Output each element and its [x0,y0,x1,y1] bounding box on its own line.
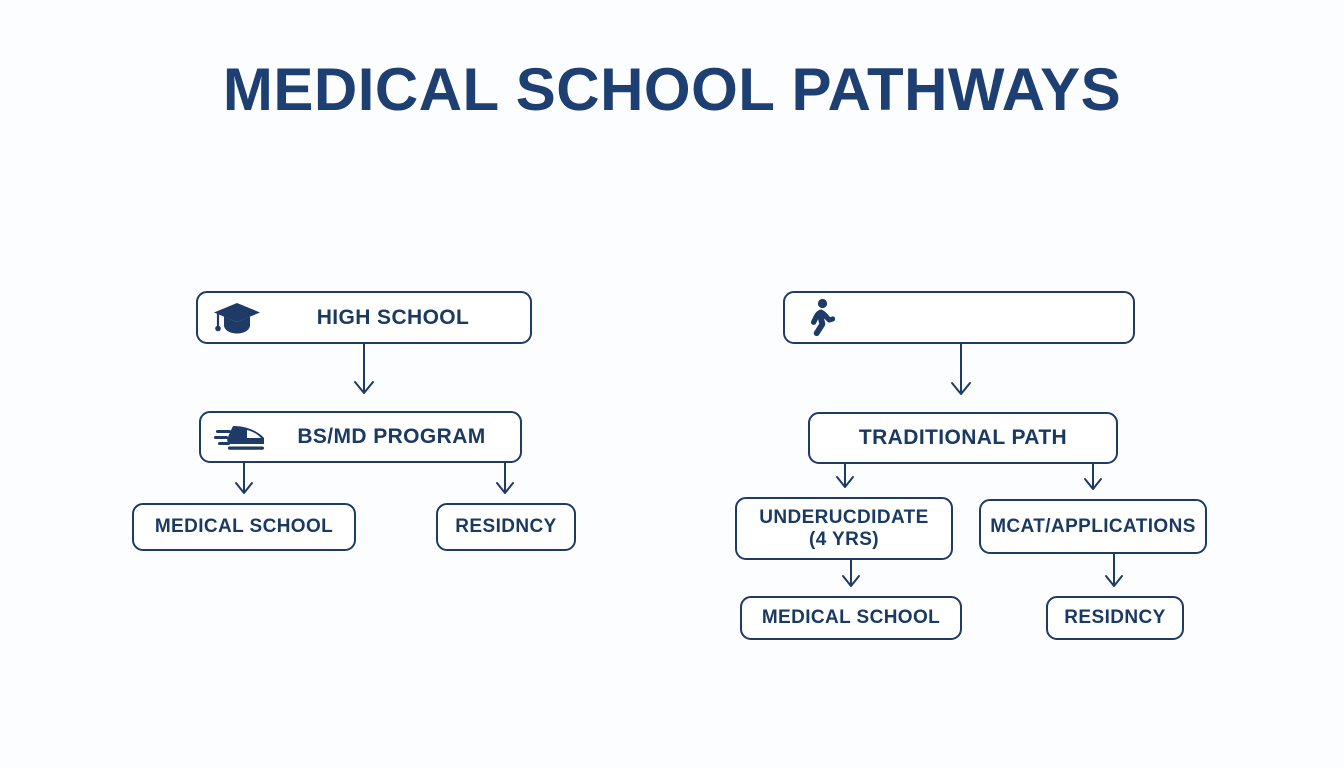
node-walking-start[interactable] [783,291,1135,344]
edge-mcat-to-residency [1106,554,1122,586]
node-medical-school-right-label: MEDICAL SCHOOL [762,607,940,628]
node-medical-school-left-label: MEDICAL SCHOOL [155,516,333,537]
walking-person-icon [797,297,841,339]
edge-bsmd-to-residency [497,463,513,493]
graduation-cap-icon [210,298,264,338]
node-high-school-label: HIGH SCHOOL [266,306,520,330]
diagram-canvas: MEDICAL SCHOOL PATHWAYS [0,0,1344,768]
edge-traditionalpath-to-undergraduate [837,464,853,487]
node-traditional-path[interactable]: TRADITIONAL PATH [808,412,1118,464]
node-bsmd-program[interactable]: BS/MD PROGRAM [199,411,522,463]
high-speed-train-icon [213,420,269,454]
node-undergraduate-label-line2: (4 YRS) [809,529,879,550]
node-residency-left[interactable]: RESIDNCY [436,503,576,551]
edge-highschool-to-bsmd [355,344,373,393]
edge-bsmd-to-medicalschool [236,463,252,493]
node-traditional-path-label: TRADITIONAL PATH [859,426,1067,450]
node-mcat-applications[interactable]: MCAT/APPLICATIONS [979,499,1207,554]
node-mcat-applications-label: MCAT/APPLICATIONS [990,516,1196,537]
node-high-school[interactable]: HIGH SCHOOL [196,291,532,344]
node-undergraduate-label-line1: UNDERUCDIDATE [759,507,929,528]
node-residency-right[interactable]: RESIDNCY [1046,596,1184,640]
node-residency-left-label: RESIDNCY [455,516,556,537]
node-residency-right-label: RESIDNCY [1064,607,1165,628]
node-undergraduate[interactable]: UNDERUCDIDATE (4 YRS) [735,497,953,560]
edge-traditionalpath-to-mcat [1085,464,1101,489]
node-medical-school-left[interactable]: MEDICAL SCHOOL [132,503,356,551]
page-title: MEDICAL SCHOOL PATHWAYS [0,58,1344,121]
edge-start-to-traditionalpath [952,344,970,394]
node-medical-school-right[interactable]: MEDICAL SCHOOL [740,596,962,640]
edge-undergraduate-to-medicalschool [843,560,859,586]
node-bsmd-program-label: BS/MD PROGRAM [271,425,512,449]
